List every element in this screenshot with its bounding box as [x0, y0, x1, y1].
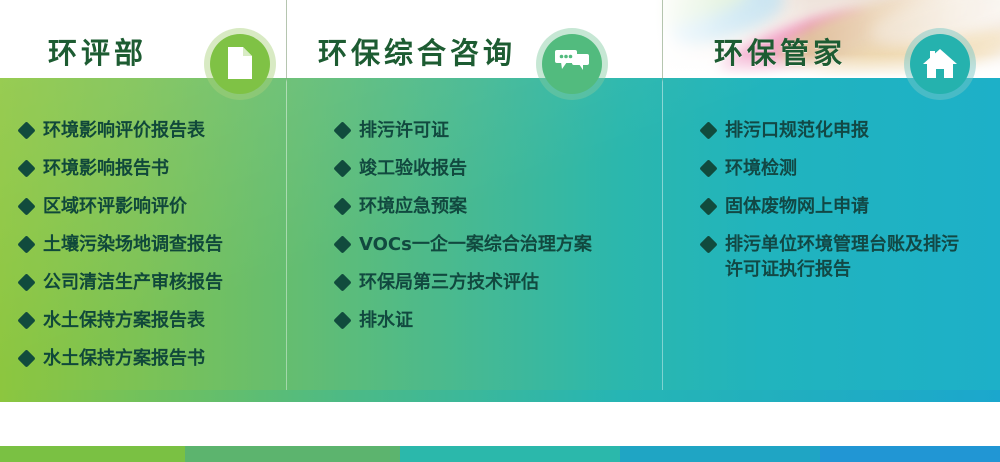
diamond-bullet-icon: [333, 235, 351, 253]
column-divider-2: [662, 0, 663, 390]
column-title-zonghe-zixun: 环保综合咨询: [318, 30, 516, 72]
list-item[interactable]: VOCs一企一案综合治理方案: [336, 232, 656, 257]
list-item[interactable]: 水土保持方案报告表: [20, 308, 286, 333]
diamond-bullet-icon: [699, 235, 717, 253]
diamond-bullet-icon: [333, 311, 351, 329]
list-item[interactable]: 土壤污染场地调查报告: [20, 232, 286, 257]
list-item[interactable]: 排污单位环境管理台账及排污 许可证执行报告: [702, 232, 998, 282]
list-item[interactable]: 区域环评影响评价: [20, 194, 286, 219]
diamond-bullet-icon: [699, 197, 717, 215]
list-item[interactable]: 环境影响报告书: [20, 156, 286, 181]
list-item[interactable]: 水土保持方案报告书: [20, 346, 286, 371]
list-item-label: 环境影响评价报告表: [43, 118, 205, 143]
footer-swatch-3: [400, 446, 620, 462]
house-icon: [922, 45, 958, 81]
diamond-bullet-icon: [699, 121, 717, 139]
column-divider-1: [286, 0, 287, 390]
chat-bubbles-icon: [554, 45, 590, 81]
document-icon: [222, 45, 258, 81]
house-icon-badge: [904, 28, 976, 100]
list-item[interactable]: 排水证: [336, 308, 656, 333]
diamond-bullet-icon: [333, 121, 351, 139]
list-item-label: 环境影响报告书: [43, 156, 169, 181]
diamond-bullet-icon: [699, 159, 717, 177]
list-item-label: 水土保持方案报告书: [43, 346, 205, 371]
list-item-label: 排污许可证: [359, 118, 449, 143]
column-zonghe-zixun: 环保综合咨询 排污许可证: [286, 0, 662, 390]
diamond-bullet-icon: [17, 235, 35, 253]
list-item[interactable]: 竣工验收报告: [336, 156, 656, 181]
list-item-label: 竣工验收报告: [359, 156, 467, 181]
list-item[interactable]: 排污许可证: [336, 118, 656, 143]
bottom-white-gap: [0, 402, 1000, 446]
service-list-huanbao-guanjia: 排污口规范化申报 环境检测 固体废物网上申请 排污单位环境管理台账及排污 许可证…: [702, 118, 998, 295]
footer-swatch-2: [185, 446, 400, 462]
list-item-label: 排水证: [359, 308, 413, 333]
diamond-bullet-icon: [17, 349, 35, 367]
list-item-label: 排污单位环境管理台账及排污 许可证执行报告: [725, 232, 959, 282]
columns-container: 环评部 环境影响评价报告表 环境影响报告书: [0, 0, 1000, 390]
diamond-bullet-icon: [17, 197, 35, 215]
bottom-gradient-bar: [0, 390, 1000, 402]
column-title-huanbao-guanjia: 环保管家: [714, 30, 846, 72]
list-item-label: 固体废物网上申请: [725, 194, 869, 219]
diamond-bullet-icon: [17, 273, 35, 291]
diamond-bullet-icon: [333, 197, 351, 215]
list-item[interactable]: 环境检测: [702, 156, 998, 181]
list-item-label: VOCs一企一案综合治理方案: [359, 232, 592, 257]
list-item-label: 土壤污染场地调查报告: [43, 232, 223, 257]
document-icon-badge: [204, 28, 276, 100]
list-item[interactable]: 环境应急预案: [336, 194, 656, 219]
service-overview-poster: 环评部 环境影响评价报告表 环境影响报告书: [0, 0, 1000, 462]
footer-color-swatches: [0, 446, 1000, 462]
footer-swatch-5: [820, 446, 1000, 462]
service-list-huanping: 环境影响评价报告表 环境影响报告书 区域环评影响评价 土壤污染场地调查报告 公司…: [20, 118, 286, 384]
list-item[interactable]: 公司清洁生产审核报告: [20, 270, 286, 295]
list-item-label: 排污口规范化申报: [725, 118, 869, 143]
service-list-zonghe-zixun: 排污许可证 竣工验收报告 环境应急预案 VOCs一企一案综合治理方案 环保局第三…: [336, 118, 656, 346]
list-item-label: 环境检测: [725, 156, 797, 181]
diamond-bullet-icon: [17, 159, 35, 177]
diamond-bullet-icon: [17, 311, 35, 329]
diamond-bullet-icon: [333, 159, 351, 177]
list-item-label: 公司清洁生产审核报告: [43, 270, 223, 295]
list-item[interactable]: 固体废物网上申请: [702, 194, 998, 219]
list-item-label: 水土保持方案报告表: [43, 308, 205, 333]
list-item-label: 区域环评影响评价: [43, 194, 187, 219]
list-item[interactable]: 环保局第三方技术评估: [336, 270, 656, 295]
diamond-bullet-icon: [17, 121, 35, 139]
list-item[interactable]: 排污口规范化申报: [702, 118, 998, 143]
footer-swatch-1: [0, 446, 185, 462]
footer-swatch-4: [620, 446, 820, 462]
chat-bubbles-icon-badge: [536, 28, 608, 100]
column-title-huanping: 环评部: [48, 30, 147, 72]
diamond-bullet-icon: [333, 273, 351, 291]
column-huanbao-guanjia: 环保管家 排污口规范化申报 环境检测 固体废: [662, 0, 1000, 390]
column-huanping: 环评部 环境影响评价报告表 环境影响报告书: [0, 0, 286, 390]
list-item[interactable]: 环境影响评价报告表: [20, 118, 286, 143]
list-item-label: 环境应急预案: [359, 194, 467, 219]
list-item-label: 环保局第三方技术评估: [359, 270, 539, 295]
